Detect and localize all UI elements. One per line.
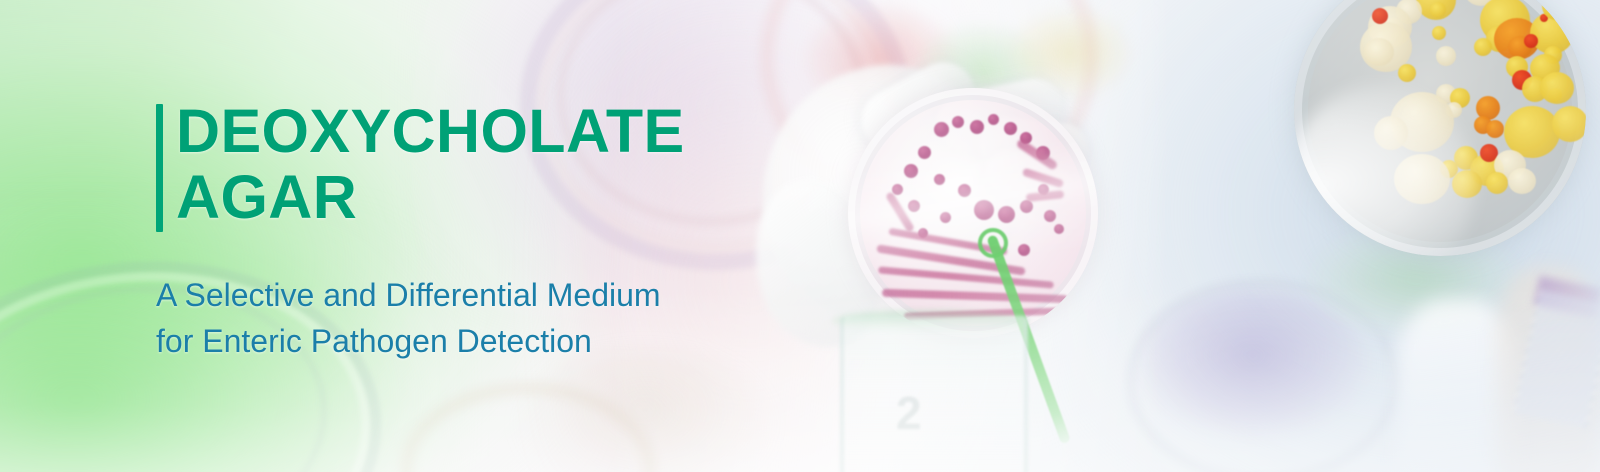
banner-text-block: DEOXYCHOLATE AGAR A Selective and Differ… bbox=[156, 98, 796, 364]
colony bbox=[1494, 18, 1540, 60]
colony bbox=[1454, 146, 1478, 170]
colony bbox=[988, 114, 999, 125]
colony bbox=[1480, 0, 1530, 44]
colony bbox=[1476, 96, 1500, 120]
page-banner: 2 DEOXYCHOLATE AGAR A Selective and Diff… bbox=[0, 0, 1600, 472]
colony bbox=[1474, 38, 1492, 56]
petri-dish-right-glare bbox=[1294, 84, 1476, 256]
page-title-line-1: DEOXYCHOLATE bbox=[176, 98, 796, 164]
colony bbox=[1382, 18, 1404, 40]
colony bbox=[1508, 168, 1536, 194]
colony bbox=[1398, 64, 1416, 82]
colony bbox=[934, 122, 949, 137]
colony bbox=[1364, 38, 1394, 66]
colony bbox=[1504, 106, 1560, 158]
page-title-line-2: AGAR bbox=[176, 164, 796, 230]
colony bbox=[1368, 6, 1412, 48]
colony bbox=[1360, 22, 1412, 72]
colony bbox=[1432, 26, 1446, 40]
petri-dish-center-glare bbox=[848, 128, 1098, 287]
colony bbox=[1548, 88, 1562, 102]
colony bbox=[1480, 144, 1498, 162]
colony bbox=[1486, 172, 1508, 194]
colony bbox=[1540, 14, 1548, 22]
page-subtitle-line-2: for Enteric Pathogen Detection bbox=[156, 318, 796, 364]
page-subtitle-line-1: A Selective and Differential Medium bbox=[156, 272, 796, 318]
colony bbox=[1436, 84, 1456, 104]
colony bbox=[1004, 122, 1017, 135]
colony bbox=[1390, 92, 1454, 152]
colony bbox=[1446, 102, 1462, 118]
colony bbox=[1394, 154, 1450, 204]
colony bbox=[1512, 70, 1532, 90]
colony bbox=[1436, 46, 1456, 66]
colony bbox=[1452, 170, 1482, 198]
colony bbox=[1430, 2, 1446, 18]
colony bbox=[1440, 160, 1458, 178]
colony bbox=[1486, 120, 1504, 138]
colony bbox=[970, 120, 984, 134]
colony bbox=[952, 116, 964, 128]
colony bbox=[1540, 72, 1574, 104]
colony bbox=[918, 146, 931, 159]
colony bbox=[1486, 26, 1512, 52]
colony bbox=[1470, 154, 1504, 186]
colony bbox=[1530, 54, 1560, 82]
colony bbox=[1524, 34, 1538, 48]
colony bbox=[1374, 116, 1408, 150]
colony bbox=[1450, 88, 1470, 108]
colony bbox=[1544, 46, 1562, 64]
colony bbox=[1372, 8, 1388, 24]
colony bbox=[1522, 76, 1548, 102]
accent-bar bbox=[156, 104, 163, 232]
colony bbox=[1506, 56, 1528, 78]
colony bbox=[1530, 12, 1574, 54]
colony bbox=[1396, 0, 1422, 24]
page-subtitle: A Selective and Differential Medium for … bbox=[156, 272, 796, 364]
colony bbox=[1494, 150, 1526, 180]
colony bbox=[1552, 106, 1586, 142]
colony bbox=[1464, 0, 1498, 6]
colony bbox=[1416, 0, 1456, 20]
colony bbox=[1474, 116, 1492, 134]
colony bbox=[1508, 36, 1532, 58]
title-block: DEOXYCHOLATE AGAR bbox=[156, 98, 796, 230]
